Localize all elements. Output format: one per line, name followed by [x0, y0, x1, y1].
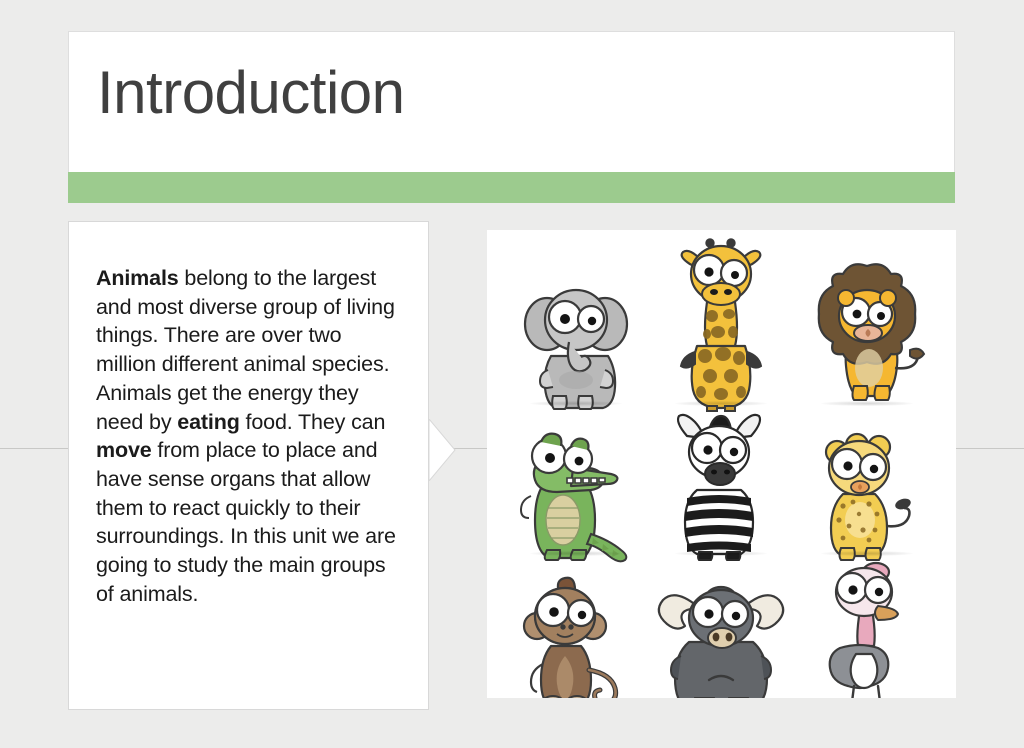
emphasis-text: move [96, 438, 152, 462]
animal-elephant [503, 240, 649, 412]
animal-buffalo [649, 562, 795, 698]
animal-lion [794, 240, 940, 412]
animal-crocodile [503, 412, 649, 562]
text-callout-box: Animals belong to the largest and most d… [68, 221, 429, 710]
animal-leopard [794, 412, 940, 562]
animal-illustration-panel [487, 230, 956, 698]
page-title: Introduction [97, 58, 405, 127]
emphasis-text: Animals [96, 266, 179, 290]
callout-pointer-arrow [429, 419, 456, 481]
animal-grid [487, 230, 956, 698]
emphasis-text: eating [177, 410, 239, 434]
animal-monkey [503, 562, 649, 698]
accent-bar [68, 172, 955, 203]
callout-text: Animals belong to the largest and most d… [96, 264, 406, 608]
animal-ostrich [794, 562, 940, 698]
animal-zebra [649, 412, 795, 562]
animal-giraffe [649, 240, 795, 412]
slide-title-card: Introduction [68, 31, 955, 172]
